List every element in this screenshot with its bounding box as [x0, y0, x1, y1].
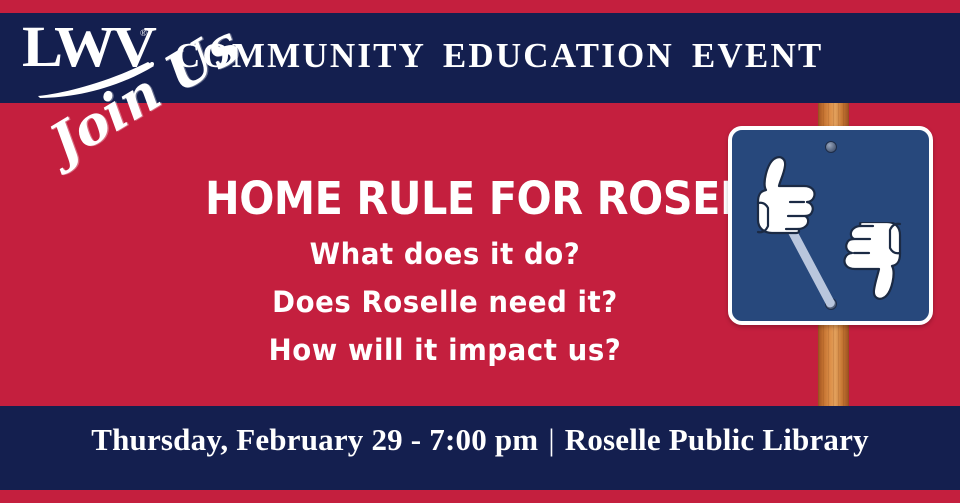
event-location: Roselle Public Library: [565, 422, 869, 457]
question-line-2: Does Roselle need it?: [208, 288, 683, 317]
top-red-band: [0, 0, 960, 13]
event-date-time: Thursday, February 29 - 7:00 pm: [91, 422, 538, 457]
event-poster: LWV ® COMMUNITY EDUCATION EVENT Join Us …: [0, 0, 960, 503]
lwv-logo-trademark: ®: [140, 28, 147, 38]
footer-separator: |: [538, 422, 564, 458]
thumbs-down-icon: [837, 222, 915, 302]
question-list: What does it do? Does Roselle need it? H…: [195, 240, 695, 384]
question-line-1: What does it do?: [208, 240, 683, 269]
road-sign-board: [728, 126, 933, 325]
event-details: Thursday, February 29 - 7:00 pm|Roselle …: [0, 422, 960, 458]
thumbs-up-icon: [742, 154, 826, 236]
bottom-red-band: [0, 490, 960, 503]
question-line-3: How will it impact us?: [208, 336, 683, 365]
sign-screw-top: [825, 141, 837, 153]
header-title: COMMUNITY EDUCATION EVENT: [175, 36, 815, 76]
page-title: HOME RULE FOR ROSELLE: [205, 176, 651, 221]
